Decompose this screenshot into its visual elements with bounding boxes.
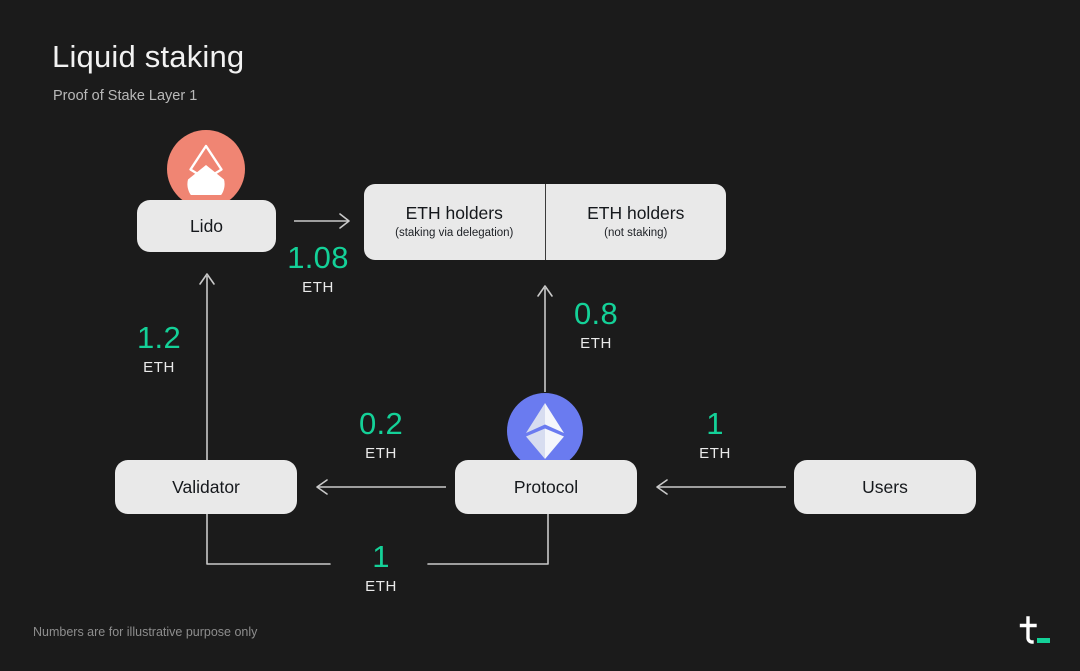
flow-unit: ETH <box>346 579 416 594</box>
flow-unit: ETH <box>561 336 631 351</box>
flow-unit: ETH <box>346 446 416 461</box>
lido-droplet-icon <box>167 130 245 208</box>
ethereum-diamond-icon <box>507 393 583 469</box>
footnote: Numbers are for illustrative purpose onl… <box>33 625 257 639</box>
connector-validator-to-lido <box>195 268 219 464</box>
page-subtitle: Proof of Stake Layer 1 <box>53 88 197 104</box>
flow-value: 1 <box>346 541 416 572</box>
node-lido[interactable]: Lido <box>137 200 276 252</box>
flow-value: 1 <box>680 408 750 439</box>
flow-label-protocol-to-validator: 0.2 ETH <box>346 408 416 461</box>
eth-holders-not-staking-subtitle: (not staking) <box>604 226 667 241</box>
flow-value: 1.08 <box>281 242 355 273</box>
connector-protocol-to-validator <box>308 476 448 498</box>
connector-lido-to-holders <box>292 210 362 232</box>
flow-label-protocol-to-holders: 0.8 ETH <box>561 298 631 351</box>
flow-unit: ETH <box>124 360 194 375</box>
connector-protocol-to-holders <box>533 280 557 394</box>
flow-value: 0.8 <box>561 298 631 329</box>
node-users-label: Users <box>862 477 908 498</box>
node-lido-label: Lido <box>190 216 223 237</box>
flow-value: 1.2 <box>124 322 194 353</box>
node-protocol-label: Protocol <box>514 477 578 498</box>
node-users[interactable]: Users <box>794 460 976 514</box>
flow-unit: ETH <box>680 446 750 461</box>
flow-label-validator-to-lido: 1.2 ETH <box>124 322 194 375</box>
flow-label-lido-to-holders: 1.08 ETH <box>281 242 355 295</box>
eth-holders-delegating-title: ETH holders <box>406 203 503 223</box>
node-validator-label: Validator <box>172 477 240 498</box>
node-eth-holders-delegating[interactable]: ETH holders (staking via delegation) <box>364 184 545 260</box>
node-protocol[interactable]: Protocol <box>455 460 637 514</box>
flow-value: 0.2 <box>346 408 416 439</box>
node-eth-holders-not-staking[interactable]: ETH holders (not staking) <box>545 184 727 260</box>
eth-holders-delegating-subtitle: (staking via delegation) <box>395 226 513 241</box>
eth-holders-not-staking-title: ETH holders <box>587 203 684 223</box>
node-eth-holders-group[interactable]: ETH holders (staking via delegation) ETH… <box>364 184 726 260</box>
flow-label-users-to-protocol: 1 ETH <box>680 408 750 461</box>
connector-users-to-protocol <box>648 476 788 498</box>
node-validator[interactable]: Validator <box>115 460 297 514</box>
diagram-canvas: Liquid staking Proof of Stake Layer 1 <box>0 0 1080 671</box>
brand-logo-icon <box>1016 612 1060 652</box>
page-title: Liquid staking <box>52 39 244 75</box>
flow-unit: ETH <box>281 280 355 295</box>
flow-label-protocol-to-validator-loop: 1 ETH <box>346 541 416 594</box>
